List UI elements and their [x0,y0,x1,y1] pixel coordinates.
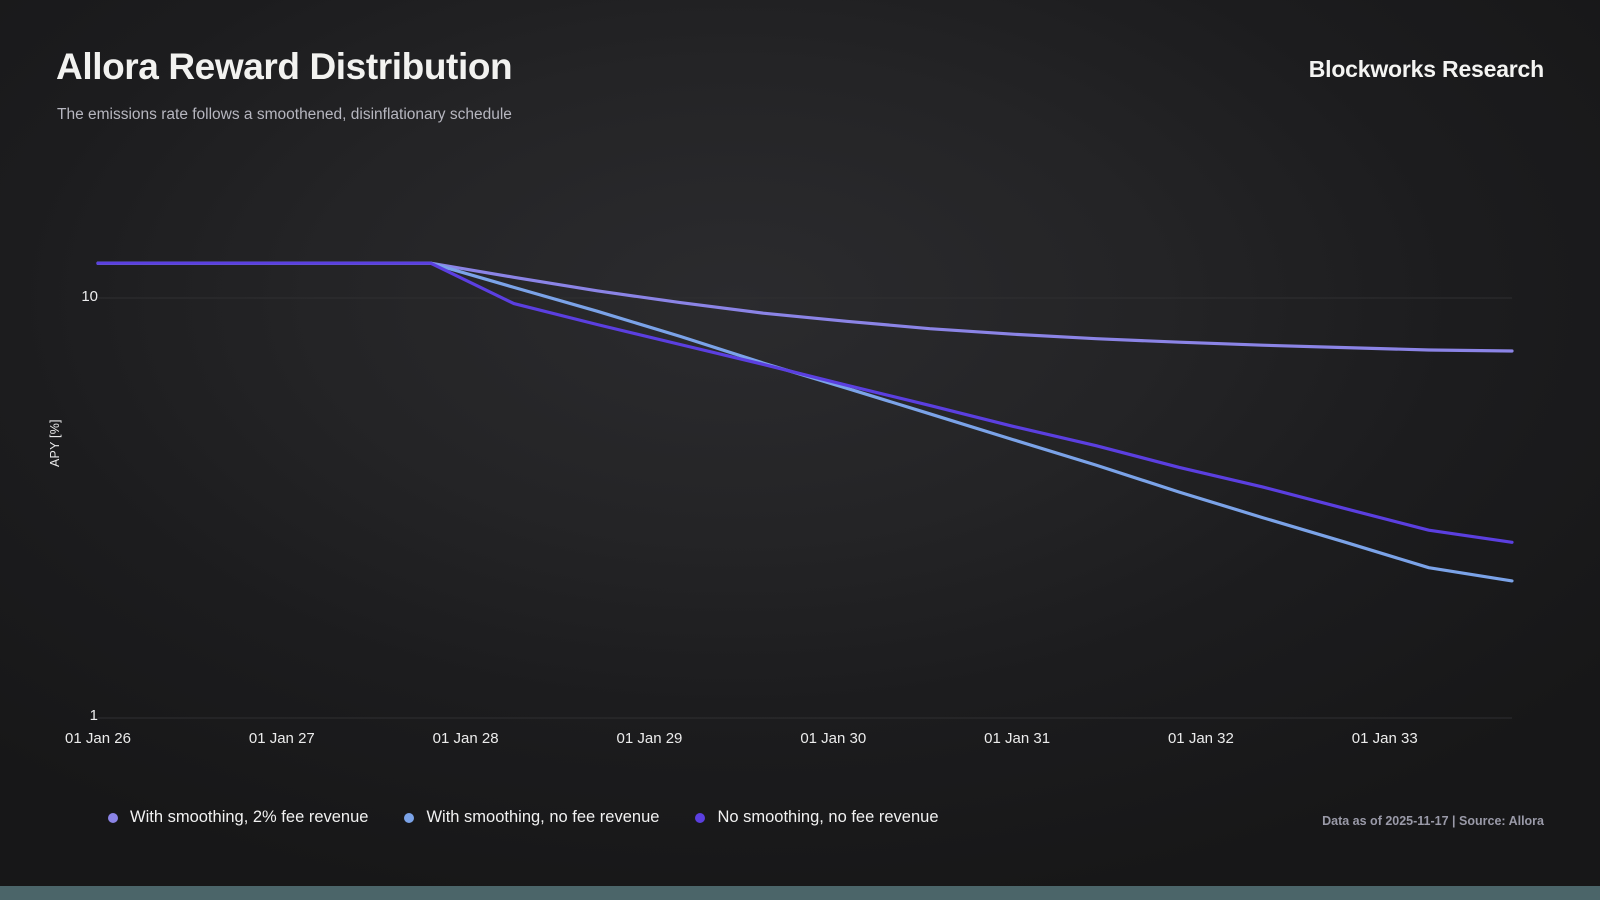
series-lines [98,263,1512,581]
y-tick-label: 10 [58,288,98,305]
legend-item[interactable]: With smoothing, no fee revenue [404,808,659,827]
x-tick-label: 01 Jan 32 [1168,730,1234,747]
legend-item[interactable]: No smoothing, no fee revenue [695,808,938,827]
y-axis-title: APY [%] [44,398,66,488]
legend-label: No smoothing, no fee revenue [717,808,938,827]
legend-dot-icon [404,813,414,823]
x-tick-label: 01 Jan 33 [1352,730,1418,747]
series-line [98,263,1512,581]
legend-dot-icon [695,813,705,823]
chart-container: Allora Reward Distribution The emissions… [0,0,1600,886]
legend-item[interactable]: With smoothing, 2% fee revenue [108,808,368,827]
source-footnote: Data as of 2025-11-17 | Source: Allora [1322,814,1544,828]
x-tick-label: 01 Jan 28 [433,730,499,747]
y-tick-label: 1 [58,707,98,724]
chart-plot [0,0,1600,886]
x-tick-label: 01 Jan 26 [65,730,131,747]
x-tick-label: 01 Jan 30 [800,730,866,747]
desktop-taskbar [0,886,1600,900]
chart-subtitle: The emissions rate follows a smoothened,… [57,106,512,124]
legend-label: With smoothing, no fee revenue [426,808,659,827]
brand-label: Blockworks Research [1309,56,1544,83]
series-line [98,263,1512,351]
series-line [98,263,1512,542]
legend-label: With smoothing, 2% fee revenue [130,808,368,827]
legend-dot-icon [108,813,118,823]
x-tick-label: 01 Jan 31 [984,730,1050,747]
x-tick-label: 01 Jan 29 [617,730,683,747]
x-tick-label: 01 Jan 27 [249,730,315,747]
gridlines [98,298,1512,718]
page-title: Allora Reward Distribution [56,46,512,88]
chart-legend: With smoothing, 2% fee revenueWith smoot… [108,808,939,827]
